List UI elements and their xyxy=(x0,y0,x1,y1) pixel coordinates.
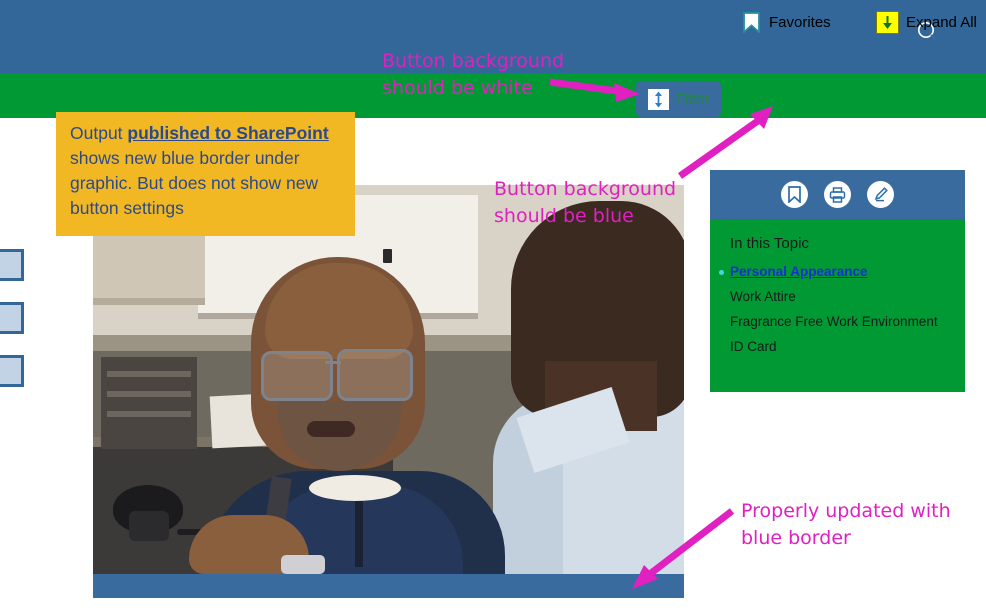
filter-updown-icon xyxy=(648,89,669,110)
topic-item-work-attire[interactable]: Work Attire xyxy=(730,289,945,305)
topic-panel-title: In this Topic xyxy=(730,235,945,252)
in-this-topic-panel: In this Topic Personal Appearance Work A… xyxy=(710,170,965,392)
print-icon xyxy=(829,187,846,203)
filter-button-label: Filter xyxy=(676,92,709,107)
expand-down-icon xyxy=(876,11,899,34)
favorites-button-label: Favorites xyxy=(769,15,831,30)
bookmark-button[interactable] xyxy=(781,181,808,208)
left-stub-box-3[interactable] xyxy=(0,355,24,387)
content-image-block xyxy=(93,185,684,598)
callout-lead: Output xyxy=(70,123,127,143)
callout-emphasis: published to SharePoint xyxy=(127,123,328,143)
expand-all-button[interactable]: Expand All xyxy=(876,0,977,45)
left-stub-box-2[interactable] xyxy=(0,302,24,334)
annotation-filter-button: Button background should be white xyxy=(382,48,564,102)
bookmark-icon xyxy=(787,186,802,203)
yellow-callout-note: Output published to SharePoint shows new… xyxy=(56,112,355,236)
expand-all-button-label: Expand All xyxy=(906,15,977,30)
topic-panel-header xyxy=(710,170,965,219)
photo-blue-border xyxy=(93,574,684,598)
callout-rest: shows new blue border under graphic. But… xyxy=(70,148,318,218)
highlighter-icon xyxy=(872,186,889,203)
office-conversation-photo xyxy=(93,185,684,574)
highlight-button[interactable] xyxy=(867,181,894,208)
topic-item-fragrance-free[interactable]: Fragrance Free Work Environment xyxy=(730,314,945,330)
topic-item-id-card[interactable]: ID Card xyxy=(730,339,945,355)
topic-item-personal-appearance[interactable]: Personal Appearance xyxy=(730,264,945,280)
print-button[interactable] xyxy=(824,181,851,208)
favorites-button[interactable]: Favorites xyxy=(741,0,831,45)
bookmark-icon xyxy=(741,12,762,33)
left-stub-box-1[interactable] xyxy=(0,249,24,281)
filter-button[interactable]: Filter xyxy=(636,81,721,117)
annotation-favorites-button: Button background should be blue xyxy=(494,176,676,230)
annotation-blue-border: Properly updated with blue border xyxy=(741,498,951,552)
